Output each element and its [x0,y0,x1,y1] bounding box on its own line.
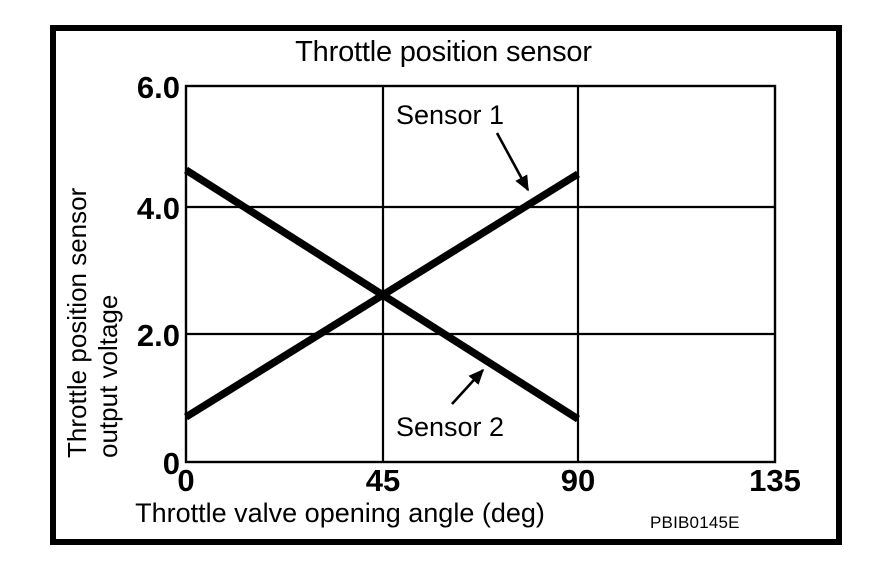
reference-code-label: PBIB0145E [650,513,740,533]
throttle-position-sensor-figure: Throttle position sensor 6.0 4.0 2.0 0 0… [0,0,887,573]
x-tick-label-90: 90 [533,463,623,499]
x-axis-title: Throttle valve opening angle (deg) [60,498,620,529]
chart-title: Throttle position sensor [0,36,887,69]
y-axis-title-line1: Throttle position sensor [62,38,93,458]
sensor-1-annotation-label: Sensor 1 [396,100,504,131]
y-axis-title: Throttle position sensor output voltage [62,38,126,458]
x-tick-label-135: 135 [730,463,820,499]
y-axis-title-line2: output voltage [93,38,124,458]
x-tick-label-45: 45 [338,463,428,499]
sensor-2-annotation-label: Sensor 2 [396,412,504,443]
x-tick-label-0: 0 [141,463,231,499]
